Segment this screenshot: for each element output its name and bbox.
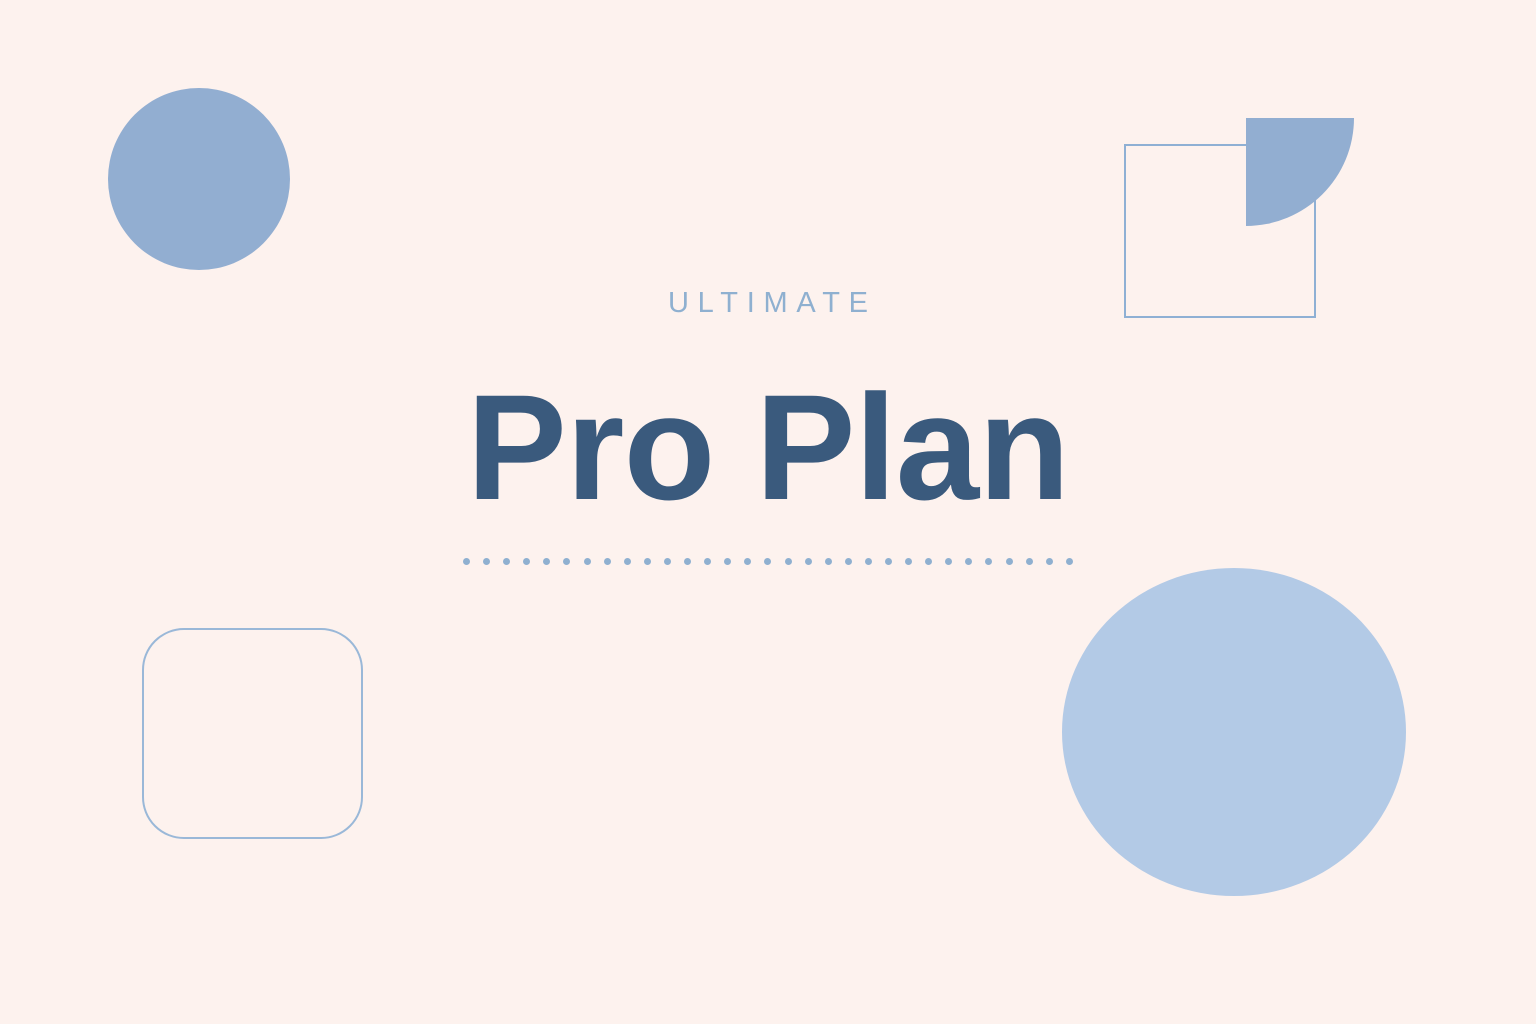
divider-dot [1006,558,1013,565]
divider-dot [845,558,852,565]
divider-dot [523,558,530,565]
divider-dot [905,558,912,565]
divider-dot [604,558,611,565]
plan-eyebrow-label: ULTIMATE [0,289,1536,318]
divider-dot [985,558,992,565]
divider-dot [1066,558,1073,565]
divider-dot [463,558,470,565]
divider-dot [724,558,731,565]
divider-dot [925,558,932,565]
plan-card: ULTIMATE Pro Plan [0,0,1536,1024]
divider-dot [825,558,832,565]
divider-dot [785,558,792,565]
divider-dot [865,558,872,565]
divider-dot [744,558,751,565]
divider-dot [1026,558,1033,565]
circle-top-left-shape [108,88,290,270]
divider-dot [483,558,490,565]
divider-dot [644,558,651,565]
divider-dot [1046,558,1053,565]
plan-title: Pro Plan [0,372,1536,522]
divider-dot [965,558,972,565]
divider-dot [945,558,952,565]
divider-dot [805,558,812,565]
divider-dot [503,558,510,565]
divider-dot [885,558,892,565]
ellipse-bottom-right-shape [1062,568,1406,896]
dotted-divider [463,557,1073,565]
divider-dot [664,558,671,565]
divider-dot [764,558,771,565]
divider-dot [704,558,711,565]
rounded-square-bottom-left-shape [142,628,363,839]
quarter-circle-top-right-shape [1246,118,1354,226]
divider-dot [563,558,570,565]
divider-dot [624,558,631,565]
divider-dot [684,558,691,565]
divider-dot [584,558,591,565]
divider-dot [543,558,550,565]
